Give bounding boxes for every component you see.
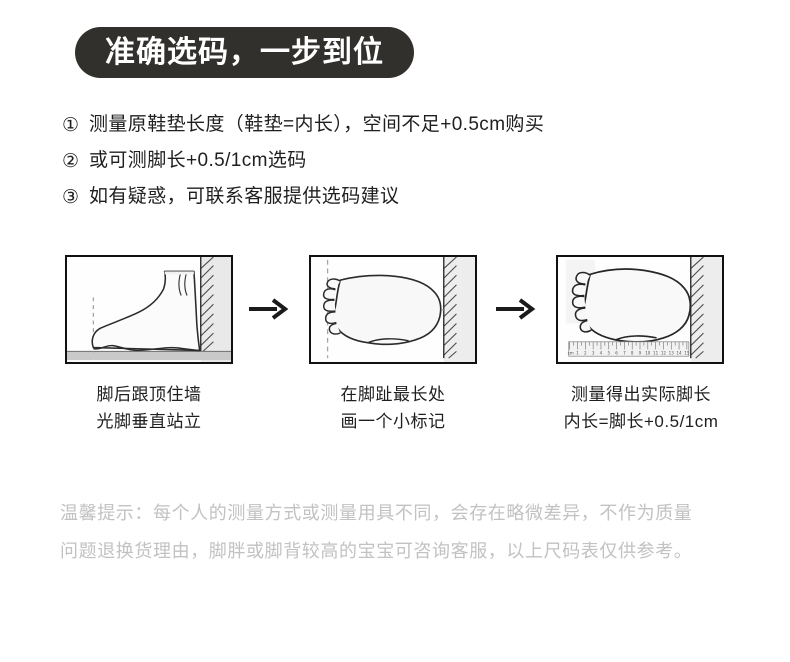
disclaimer-line-2: 问题退换货理由，脚胖或脚背较高的宝宝可咨询客服，以上尺码表仅供参考。 (60, 532, 750, 570)
arrow-right-glyph (494, 296, 536, 322)
svg-text:3: 3 (592, 350, 595, 355)
foot-top-view-icon (311, 257, 475, 362)
page-title: 准确选码，一步到位 (105, 38, 384, 68)
list-item: ② 或可测脚长+0.5/1cm选码 (62, 144, 742, 180)
step-text-2: 或可测脚长+0.5/1cm选码 (89, 144, 307, 178)
step-marker-3: ③ (62, 180, 89, 214)
step-marker-1: ① (62, 108, 89, 142)
svg-text:2: 2 (584, 350, 587, 355)
list-item: ③ 如有疑惑，可联系客服提供选码建议 (62, 180, 742, 216)
illustration-foot-side-view (65, 255, 233, 364)
disclaimer-line-1: 温馨提示：每个人的测量方式或测量用具不同，会存在略微差异，不作为质量 (60, 494, 750, 532)
arrow-right-icon-2 (494, 296, 536, 322)
step-marker-2: ② (62, 144, 89, 178)
illustration-foot-top-view-mark (309, 255, 477, 364)
list-item: ① 测量原鞋垫长度（鞋垫=内长），空间不足+0.5cm购买 (62, 108, 742, 144)
arrow-right-icon-1 (247, 296, 289, 322)
svg-text:4: 4 (600, 350, 603, 355)
foot-ruler-icon: cm 1 2 3 4 5 6 7 8 9 10 11 12 13 14 15 (558, 257, 722, 362)
caption-panel-1: 脚后跟顶住墙 光脚垂直站立 (34, 381, 264, 435)
caption-1-line-1: 脚后跟顶住墙 (34, 381, 264, 408)
svg-text:13: 13 (669, 350, 675, 355)
svg-text:11: 11 (653, 350, 659, 355)
step-text-1: 测量原鞋垫长度（鞋垫=内长），空间不足+0.5cm购买 (89, 108, 544, 142)
caption-row: 脚后跟顶住墙 光脚垂直站立 在脚趾最长处 画一个小标记 测量得出实际脚长 内长=… (0, 381, 790, 441)
illustration-foot-with-ruler: cm 1 2 3 4 5 6 7 8 9 10 11 12 13 14 15 (556, 255, 724, 364)
svg-text:10: 10 (645, 350, 651, 355)
step-text-3: 如有疑惑，可联系客服提供选码建议 (89, 180, 399, 214)
svg-text:5: 5 (607, 350, 610, 355)
svg-text:12: 12 (661, 350, 667, 355)
svg-text:6: 6 (615, 350, 618, 355)
svg-text:1: 1 (576, 350, 579, 355)
caption-3-line-1: 测量得出实际脚长 (526, 381, 756, 408)
caption-3-line-2: 内长=脚长+0.5/1cm (526, 408, 756, 435)
caption-panel-3: 测量得出实际脚长 内长=脚长+0.5/1cm (526, 381, 756, 435)
svg-text:15: 15 (684, 350, 690, 355)
svg-text:9: 9 (639, 350, 642, 355)
illustration-strip: cm 1 2 3 4 5 6 7 8 9 10 11 12 13 14 15 (0, 250, 790, 380)
svg-text:7: 7 (623, 350, 626, 355)
caption-1-line-2: 光脚垂直站立 (34, 408, 264, 435)
arrow-right-glyph (247, 296, 289, 322)
caption-2-line-1: 在脚趾最长处 (278, 381, 508, 408)
page-title-badge: 准确选码，一步到位 (75, 27, 414, 78)
disclaimer-note: 温馨提示：每个人的测量方式或测量用具不同，会存在略微差异，不作为质量 问题退换货… (60, 494, 750, 570)
caption-2-line-2: 画一个小标记 (278, 408, 508, 435)
instruction-list: ① 测量原鞋垫长度（鞋垫=内长），空间不足+0.5cm购买 ② 或可测脚长+0.… (62, 108, 742, 216)
svg-text:14: 14 (676, 350, 682, 355)
svg-text:8: 8 (631, 350, 634, 355)
foot-side-view-icon (67, 257, 231, 362)
svg-text:cm: cm (568, 350, 574, 355)
caption-panel-2: 在脚趾最长处 画一个小标记 (278, 381, 508, 435)
